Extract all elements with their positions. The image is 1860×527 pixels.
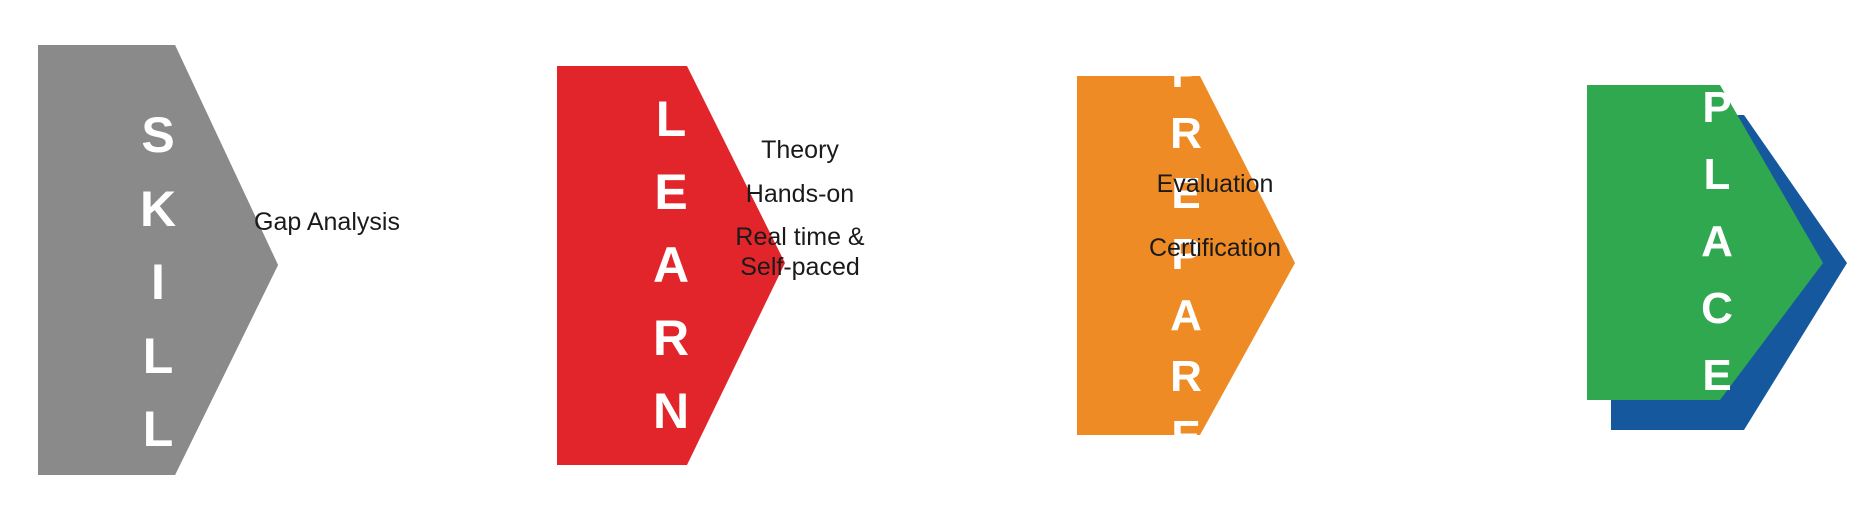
stage-skill[interactable]: S K I L L: [38, 45, 278, 521]
skill-chevron-shape: [38, 45, 278, 521]
place-chevron-shape: [1587, 85, 1847, 435]
process-flow-diagram: S K I L L Gap Analysis L E A R N Theory …: [0, 0, 1860, 521]
annotation-hands-on: Hands-on: [672, 180, 928, 210]
annotation-gap-analysis: Gap Analysis: [248, 208, 406, 238]
annotation-real-time-self-paced: Real time & Self-paced: [672, 223, 928, 282]
learn-annotations: Theory Hands-on Real time & Self-paced: [672, 136, 928, 282]
prepare-annotations: Evaluation Certification: [1090, 170, 1340, 263]
skill-annotations: Gap Analysis: [248, 208, 406, 238]
annotation-certification: Certification: [1090, 234, 1340, 264]
annotation-theory: Theory: [672, 136, 928, 166]
annotation-evaluation: Evaluation: [1090, 170, 1340, 200]
stage-place[interactable]: P L A C E: [1587, 85, 1847, 435]
